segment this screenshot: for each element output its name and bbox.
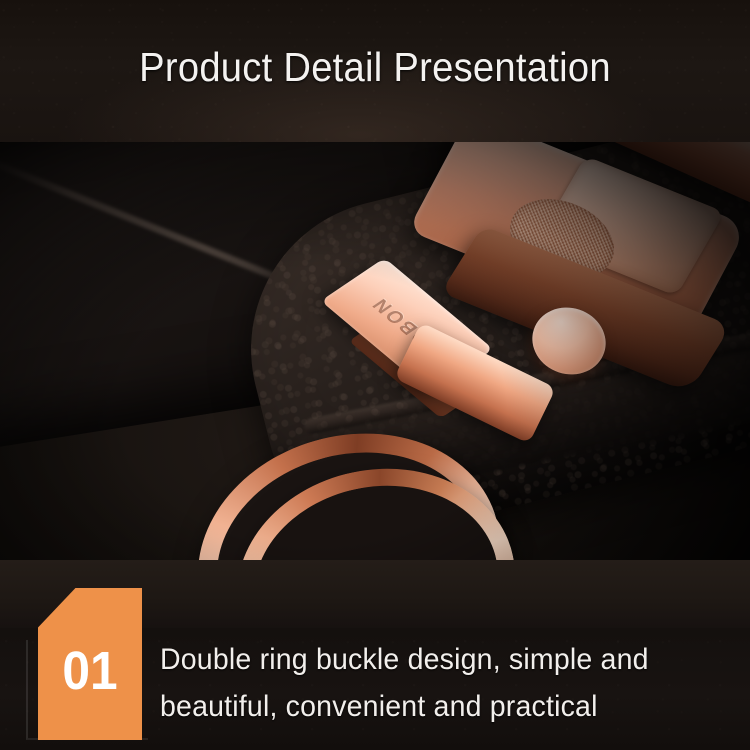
page-title: Product Detail Presentation [26, 0, 724, 142]
caption-line-1: Double ring buckle design, simple and [160, 636, 692, 683]
caption-line-2: beautiful, convenient and practical [160, 683, 692, 730]
product-detail-banner: JOBON Product Detail Presentation 01 Dou… [0, 0, 750, 750]
caption-text: Double ring buckle design, simple and be… [160, 636, 692, 730]
header-band: Product Detail Presentation [0, 0, 750, 142]
step-number-label: 01 [62, 644, 117, 698]
